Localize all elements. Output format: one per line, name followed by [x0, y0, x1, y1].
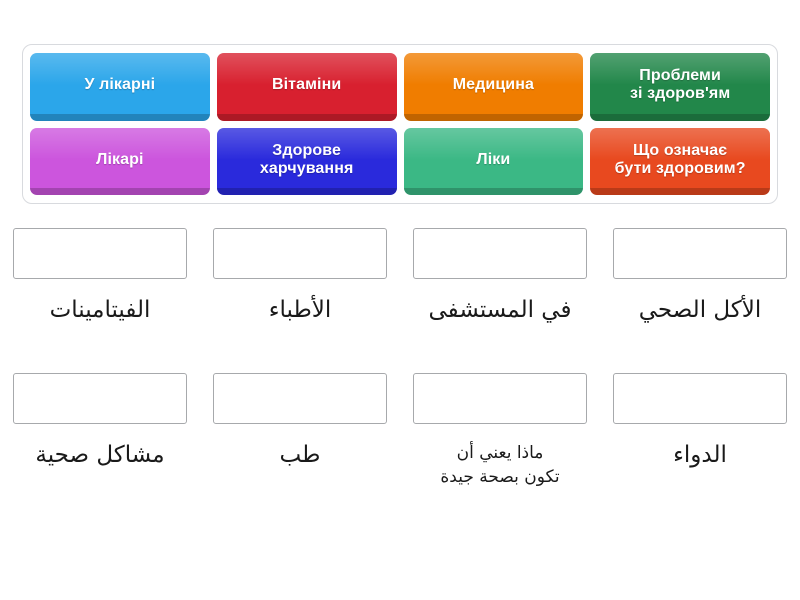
tile-liky[interactable]: Ліки	[404, 128, 584, 196]
tile-shcho-oznachaye-buty-zdorovym[interactable]: Що означаєбути здоровим?	[590, 128, 770, 196]
dropzone[interactable]	[413, 373, 587, 424]
tile-label: Медицина	[453, 76, 534, 94]
tile-zdorove-kharchuvannya[interactable]: Здоровехарчування	[217, 128, 397, 196]
row-spacer	[0, 324, 800, 373]
answer-prompt: ماذا يعني أنتكون بصحة جيدة	[413, 442, 587, 489]
dropzone[interactable]	[413, 228, 587, 279]
dropzone[interactable]	[13, 373, 187, 424]
tile-label: Ліки	[476, 151, 510, 169]
answer-prompt: الأكل الصحي	[613, 296, 787, 324]
answer-ad-dawa: الدواء	[600, 373, 800, 489]
dropzone[interactable]	[613, 228, 787, 279]
answer-grid: الفيتاميناتالأطباءفي المستشفىالأكل الصحي…	[0, 228, 800, 489]
tile-likari[interactable]: Лікарі	[30, 128, 210, 196]
tile-problemy-zi-zdorovyam[interactable]: Проблемизі здоров'ям	[590, 53, 770, 121]
answer-prompt: طب	[213, 441, 387, 469]
answer-al-akl-as-sihhi: الأكل الصحي	[600, 228, 800, 324]
answer-madha-yani-an-takun-bisihha-jayyida: ماذا يعني أنتكون بصحة جيدة	[400, 373, 600, 489]
answer-fi-al-mustashfa: في المستشفى	[400, 228, 600, 324]
tile-vitaminy[interactable]: Вітаміни	[217, 53, 397, 121]
answer-prompt: الفيتامينات	[13, 296, 187, 324]
dropzone[interactable]	[213, 373, 387, 424]
tile-label: Проблемизі здоров'ям	[630, 67, 730, 103]
answer-prompt: الأطباء	[213, 296, 387, 324]
answer-tibb: طب	[200, 373, 400, 489]
answer-al-atibba: الأطباء	[200, 228, 400, 324]
tile-u-likarni[interactable]: У лікарні	[30, 53, 210, 121]
tile-medytsyna[interactable]: Медицина	[404, 53, 584, 121]
answer-mashakil-sihhiyya: مشاكل صحية	[0, 373, 200, 489]
answer-prompt: في المستشفى	[413, 296, 587, 324]
tile-label: У лікарні	[85, 76, 156, 94]
answer-prompt: الدواء	[613, 441, 787, 469]
answer-prompt: مشاكل صحية	[13, 441, 187, 469]
dropzone[interactable]	[213, 228, 387, 279]
answer-al-fitaminat: الفيتامينات	[0, 228, 200, 324]
tile-label: Здоровехарчування	[260, 142, 354, 178]
tile-label: Лікарі	[96, 151, 143, 169]
dropzone[interactable]	[613, 373, 787, 424]
tile-label: Вітаміни	[272, 76, 341, 94]
tile-label: Що означаєбути здоровим?	[615, 142, 746, 178]
dropzone[interactable]	[13, 228, 187, 279]
tile-tray: У лікарніВітаміниМедицинаПроблемизі здор…	[22, 44, 778, 204]
